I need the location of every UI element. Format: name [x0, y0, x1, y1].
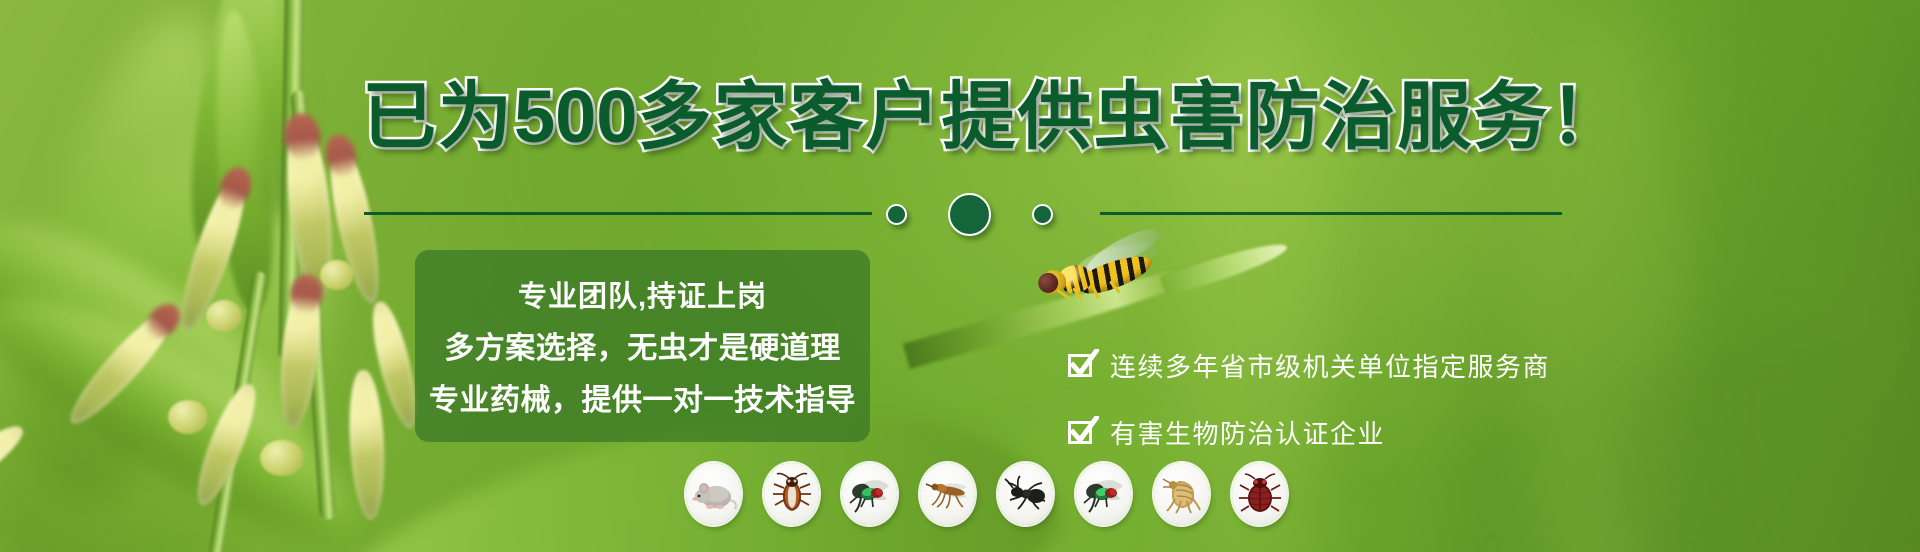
divider-right [1100, 212, 1562, 215]
headline-suffix: 多家客户提供虫害防治服务！ [637, 75, 1625, 158]
fly-icon[interactable] [842, 463, 897, 525]
pest-type-icons [686, 463, 1287, 525]
checkbox-check-icon [1068, 418, 1096, 446]
list-item: 有害生物防治认证企业 [1068, 407, 1550, 457]
selling-point-1: 专业团队,持证上岗 [518, 273, 767, 315]
selling-point-3: 专业药械，提供一对一技术指导 [429, 375, 856, 419]
headline-prefix: 已为 [362, 75, 514, 158]
cockroach-icon[interactable] [764, 463, 819, 525]
ant-icon[interactable] [998, 463, 1053, 525]
blowfly-icon[interactable] [1076, 463, 1131, 525]
certification-label: 连续多年省市级机关单位指定服务商 [1110, 347, 1550, 384]
checkbox-check-icon [1068, 351, 1096, 379]
mosquito-icon[interactable] [920, 463, 975, 525]
certification-label: 有害生物防治认证企业 [1110, 414, 1385, 451]
bedbug-icon[interactable] [1232, 463, 1287, 525]
dot-small-right [1032, 204, 1053, 225]
dot-small-left [886, 204, 907, 225]
dot-large-center [948, 193, 991, 236]
certification-list: 连续多年省市级机关单位指定服务商 有害生物防治认证企业 [1068, 340, 1550, 457]
mouse-icon[interactable] [686, 463, 741, 525]
selling-point-2: 多方案选择，无虫才是硬道理 [444, 323, 841, 367]
decorative-dots [886, 193, 1092, 237]
headline-number: 500 [514, 75, 637, 158]
flea-icon[interactable] [1154, 463, 1209, 525]
page-title: 已为500多家客户提供虫害防治服务！ [362, 78, 1562, 158]
selling-points-text: 专业团队,持证上岗 多方案选择，无虫才是硬道理 专业药械，提供一对一技术指导 [415, 250, 870, 442]
pest-control-hero-banner: 已为500多家客户提供虫害防治服务！ 专业团队,持证上岗 多方案选择，无虫才是硬… [0, 0, 1920, 552]
divider-left [364, 212, 872, 215]
list-item: 连续多年省市级机关单位指定服务商 [1068, 340, 1550, 390]
